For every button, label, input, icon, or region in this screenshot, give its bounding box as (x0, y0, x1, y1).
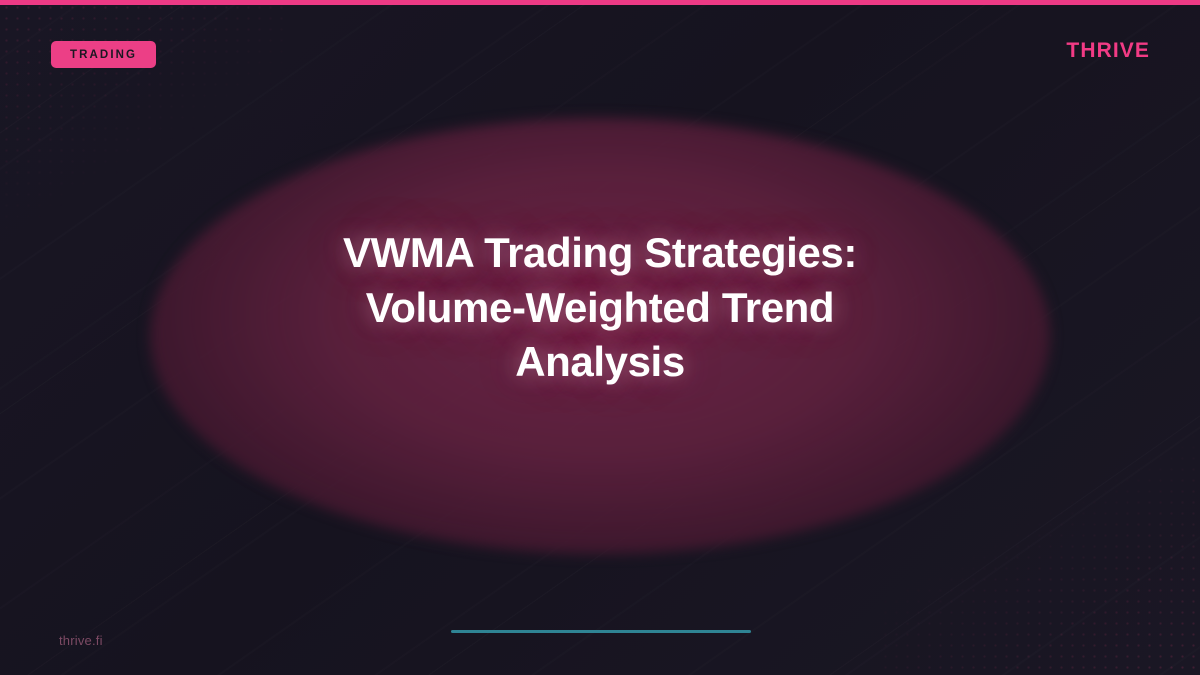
footer-watermark: thrive.fi (59, 633, 103, 648)
dot-pattern-bottom-right (880, 431, 1200, 675)
dot-pattern-top-left (0, 2, 290, 232)
page-title-line-2: Volume-Weighted Trend (366, 284, 834, 331)
page-title-line-1: VWMA Trading Strategies: (343, 229, 857, 276)
page-title-line-3: Analysis (515, 338, 685, 385)
brand-logo[interactable]: THRIVE (1066, 39, 1150, 63)
top-accent-bar (0, 0, 1200, 5)
category-badge-label: TRADING (70, 49, 137, 61)
bottom-accent-line (451, 630, 751, 633)
page-title: VWMA Trading Strategies: Volume-Weighted… (240, 226, 960, 390)
brand-logo-label: THRIVE (1066, 39, 1150, 62)
title-slide: TRADING THRIVE VWMA Trading Strategies: … (0, 0, 1200, 675)
category-badge[interactable]: TRADING (51, 41, 156, 68)
